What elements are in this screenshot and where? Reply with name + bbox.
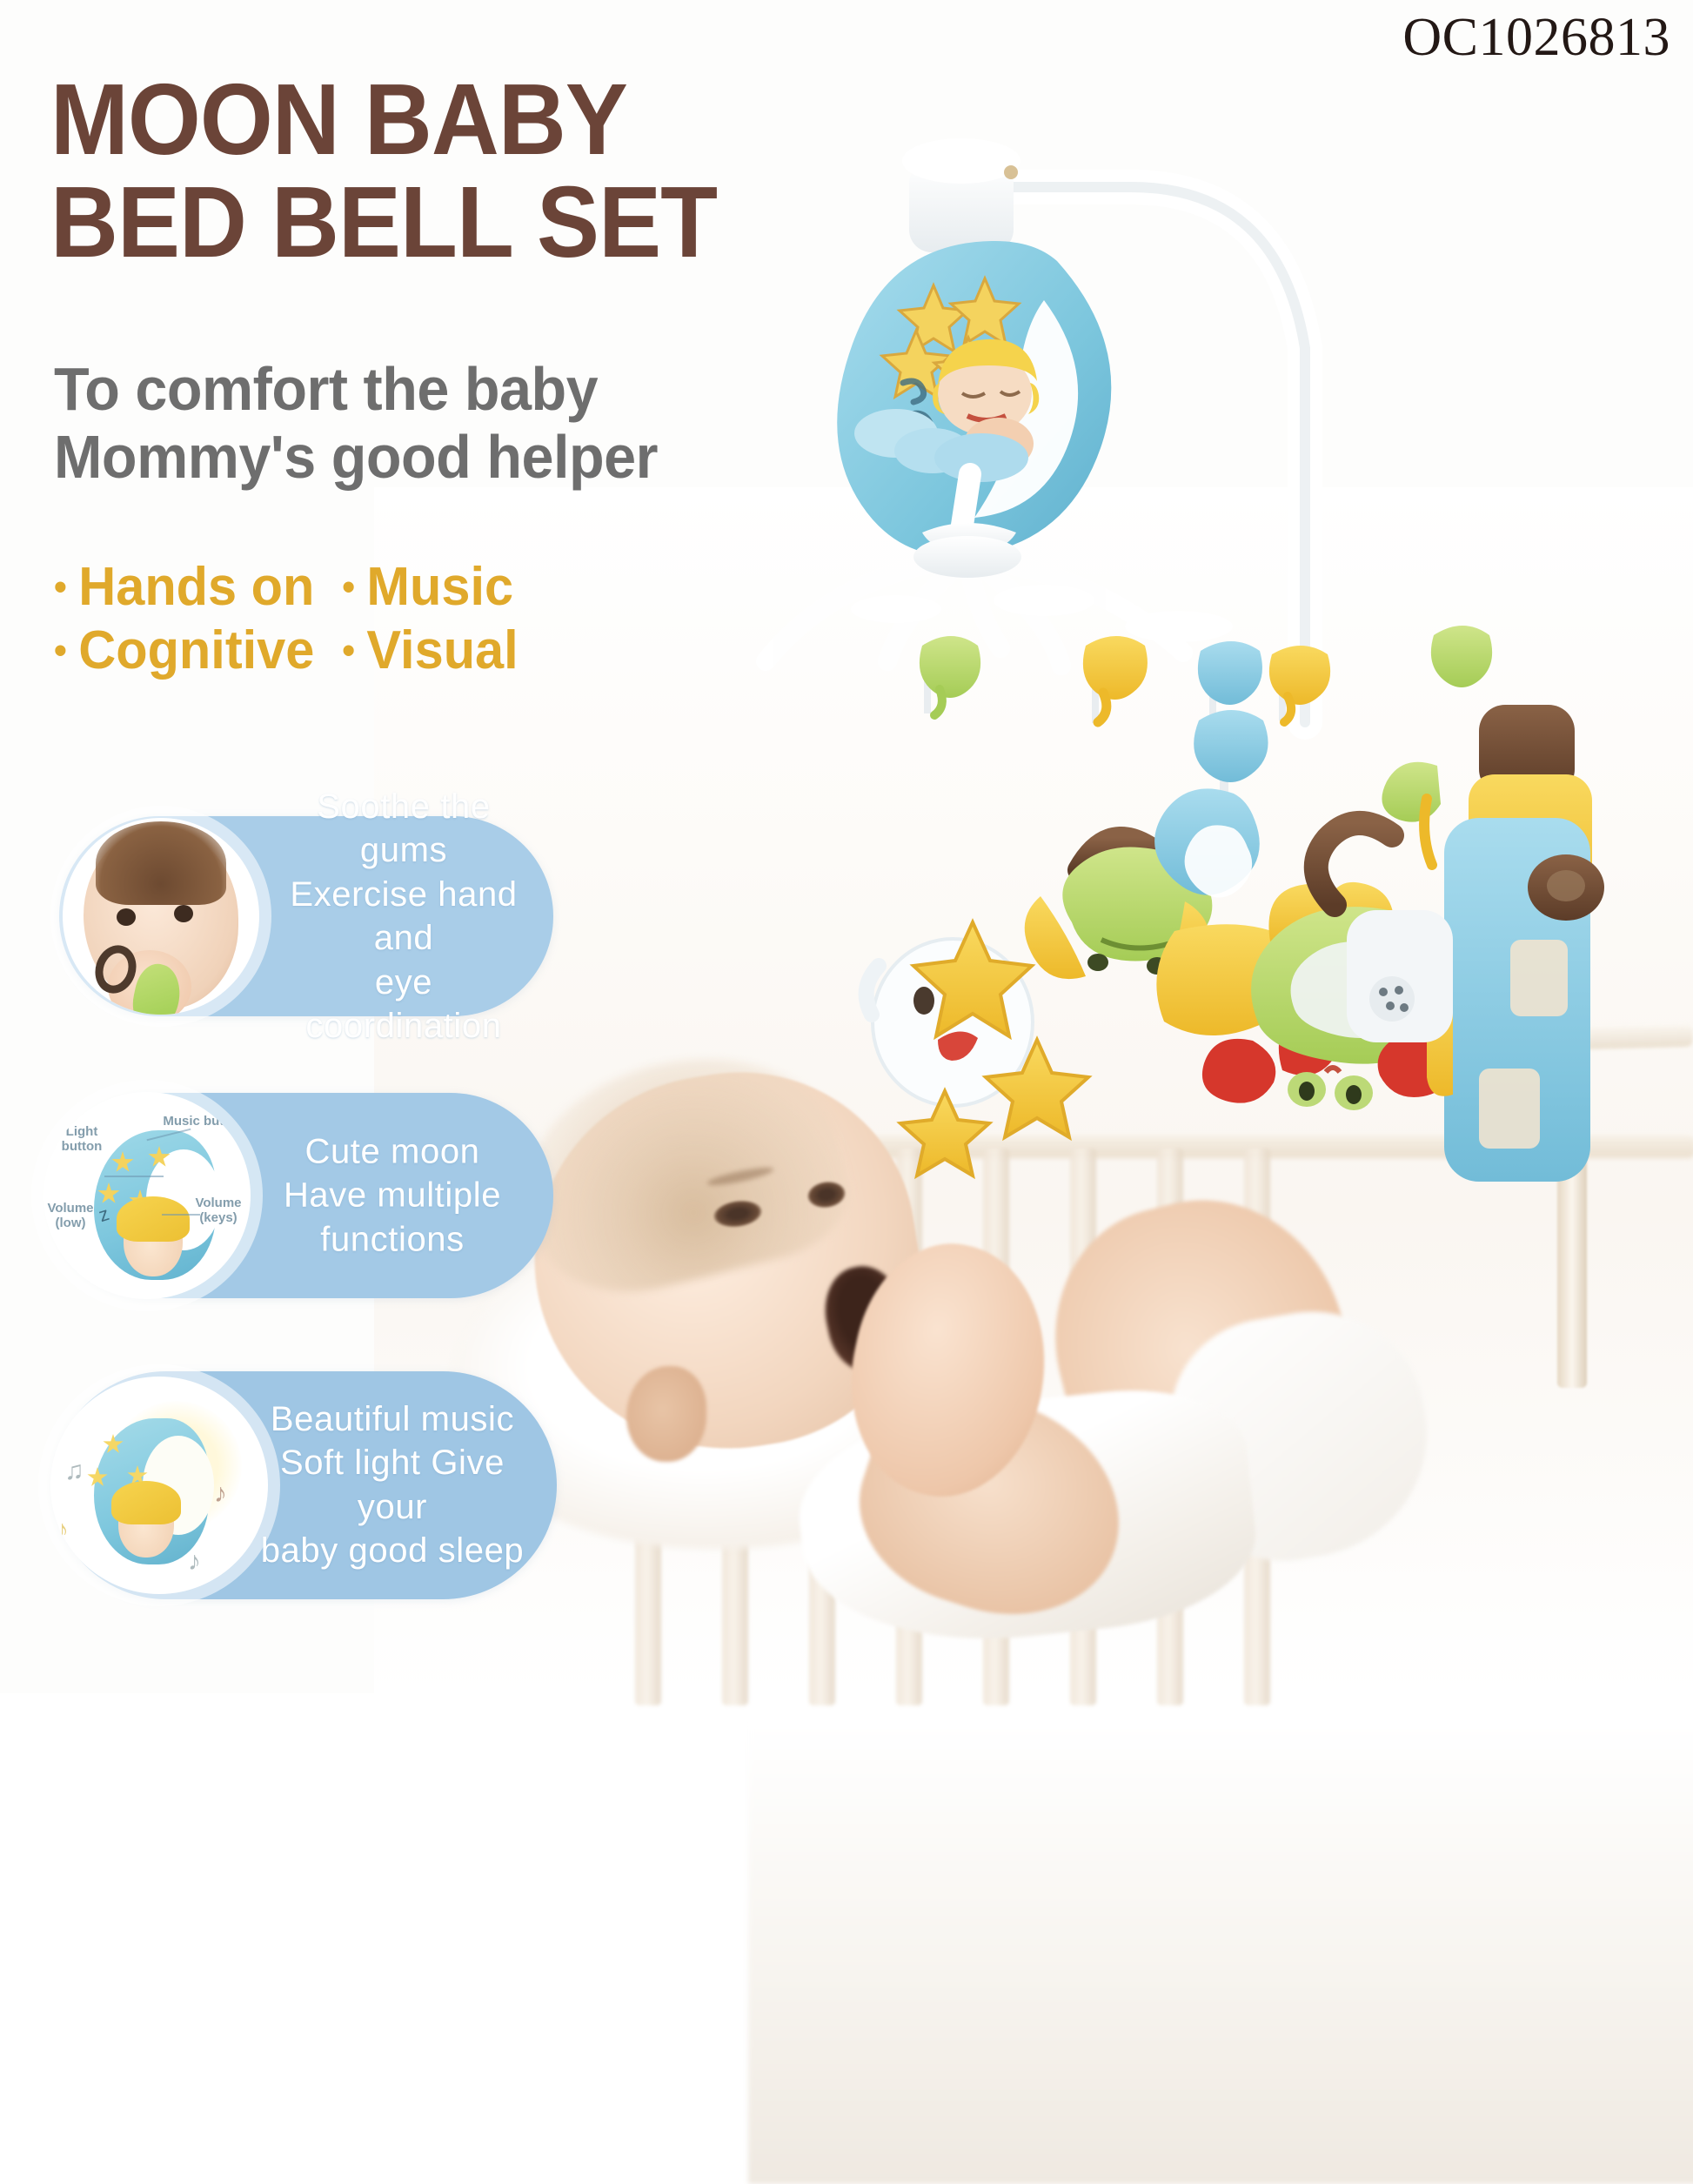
thumb-baby-hair — [96, 821, 226, 905]
music-note-icon: ♫ — [50, 1387, 59, 1414]
moon-baby-figure — [933, 339, 1039, 470]
baby-ear — [626, 1366, 706, 1462]
feature-line: Exercise hand and — [273, 873, 534, 961]
feature-line: Soothe the gums — [273, 785, 534, 873]
thumb-baby-eye — [117, 908, 136, 926]
bullet-hands-on: • Hands on — [54, 555, 342, 619]
bullet-marker-icon: • — [342, 568, 355, 606]
feature-line: Soft light Give your — [249, 1442, 536, 1530]
feature-thumb-moon-callouts: z Light button Music button Volume (low)… — [43, 1092, 251, 1299]
bullet-marker-icon: • — [54, 568, 67, 606]
page-subtitle: To comfort the baby Mommy's good helper — [54, 355, 831, 492]
feature-line: Have multiple — [258, 1174, 527, 1217]
music-note-icon: ♪ — [188, 1547, 201, 1577]
feature-thumb-moon-nightlight: ♫ ♫ ♪ ♪ ♪ — [50, 1377, 268, 1594]
callout-label-music-button: Music button — [157, 1115, 251, 1129]
feature-bullets: • Hands on • Music • Cognitive • Visual — [54, 555, 722, 682]
bullet-label: Visual — [366, 619, 518, 682]
crib-post-right — [1557, 1040, 1587, 1388]
feature-pill-soothe-gums: Soothe the gums Exercise hand and eye co… — [59, 816, 553, 1016]
callout-label-light-button: Light button — [49, 1125, 115, 1154]
moon-cloud-base — [854, 409, 1028, 482]
crib-mattress — [748, 1723, 1693, 2184]
callout-line — [104, 1176, 164, 1177]
bullet-marker-icon: • — [54, 632, 67, 670]
thumb-baby-eye — [174, 905, 193, 922]
callout-label-volume-low: Volume (low) — [43, 1202, 104, 1230]
feature-pill-cute-moon: z Light button Music button Volume (low)… — [49, 1093, 553, 1298]
product-code: OC1026813 — [1402, 7, 1670, 69]
music-note-icon: ♫ — [64, 1457, 84, 1486]
thumb-moon-baby-figure — [118, 1491, 174, 1558]
title-line-2: BED BELL SET — [50, 171, 843, 273]
feature-text: Cute moon Have multiple functions — [258, 1129, 527, 1261]
sleep-zzz-icon — [903, 381, 931, 437]
feature-line: Beautiful music — [249, 1397, 536, 1441]
bullet-label: Hands on — [78, 555, 314, 619]
bullet-label: Cognitive — [78, 619, 314, 682]
bullet-visual: • Visual — [342, 619, 519, 682]
bullet-cognitive: • Cognitive — [54, 619, 342, 682]
feature-text: Soothe the gums Exercise hand and eye co… — [273, 785, 534, 1048]
feature-line: baby good sleep — [249, 1529, 536, 1572]
feature-line: eye coordination — [273, 960, 534, 1048]
bullet-row: • Cognitive • Visual — [54, 619, 722, 682]
callout-label-volume-keys: Volume (keys) — [181, 1196, 251, 1225]
feature-pill-beautiful-music: ♫ ♫ ♪ ♪ ♪ Beautiful music Soft light Giv… — [52, 1371, 557, 1599]
feature-line: Cute moon — [258, 1129, 527, 1173]
bullet-music: • Music — [342, 555, 513, 619]
moon-stars — [882, 278, 1019, 404]
bullet-row: • Hands on • Music — [54, 555, 722, 619]
title-line-1: MOON BABY — [50, 63, 627, 176]
feature-thumb-baby-teether — [63, 818, 259, 1015]
feature-line: functions — [258, 1217, 527, 1261]
product-poster: OC1026813 MOON BABY BED BELL SET To comf… — [0, 0, 1693, 1693]
baby-photo — [452, 1027, 1322, 1584]
music-note-icon: ♪ — [56, 1516, 69, 1545]
subtitle-line-2: Mommy's good helper — [54, 423, 831, 491]
feature-text: Beautiful music Soft light Give your bab… — [249, 1397, 536, 1573]
music-note-icon: ♪ — [214, 1479, 227, 1509]
bullet-label: Music — [366, 555, 513, 619]
bullet-marker-icon: • — [342, 632, 355, 670]
thumb-moon-baby-figure — [124, 1207, 183, 1276]
subtitle-line-1: To comfort the baby — [54, 355, 831, 423]
page-title: MOON BABY BED BELL SET — [50, 68, 843, 274]
mobile-motor-housing — [902, 138, 1020, 285]
